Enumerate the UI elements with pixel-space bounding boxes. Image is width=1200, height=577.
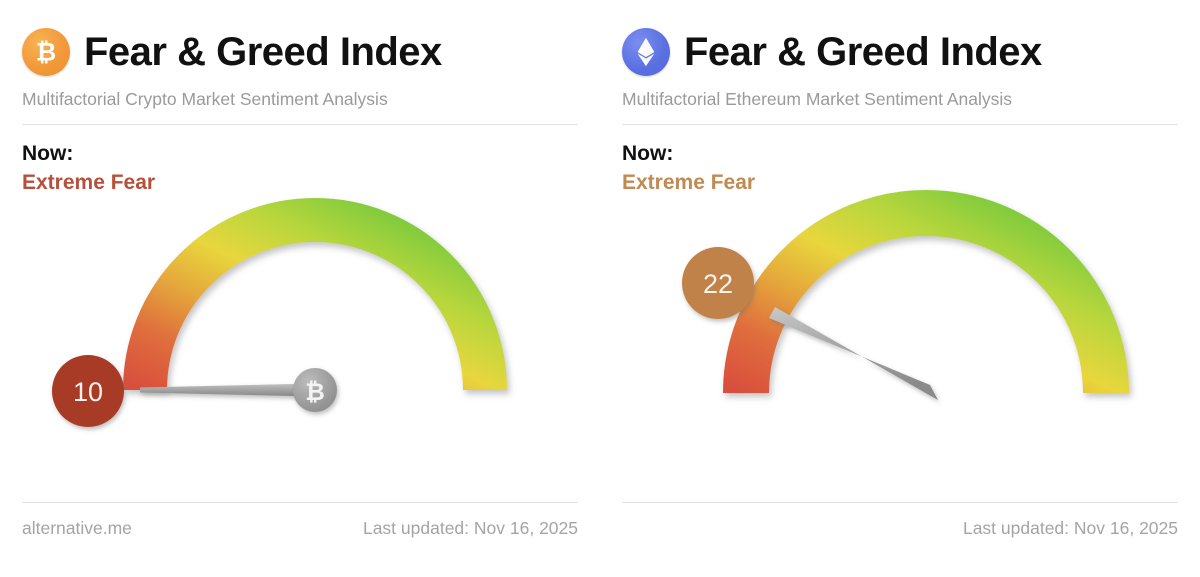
bitcoin-hub-icon: ₿: [293, 368, 337, 412]
gauge-arc: [145, 220, 485, 390]
header-divider: [622, 124, 1178, 125]
bitcoin-panel-header: ₿ Fear & Greed Index: [22, 26, 578, 78]
page-title: Fear & Greed Index: [84, 32, 442, 72]
bitcoin-logo-icon: ₿: [22, 28, 70, 76]
gauge-value-label: 22: [703, 269, 733, 299]
gauge-value-label: 10: [73, 377, 103, 407]
bitcoin-subtitle: Multifactorial Crypto Market Sentiment A…: [22, 89, 578, 110]
gauge-arc: [746, 213, 1106, 393]
ethereum-subtitle: Multifactorial Ethereum Market Sentiment…: [622, 89, 1178, 110]
bitcoin-gauge: ₿ 10: [30, 193, 570, 523]
gauge-value-badge: 22: [682, 247, 754, 319]
page-title: Fear & Greed Index: [684, 32, 1042, 72]
ethereum-gauge: 22: [636, 155, 1196, 535]
gauge-needle: [769, 307, 938, 400]
svg-text:₿: ₿: [36, 39, 56, 67]
ethereum-panel: Fear & Greed Index Multifactorial Ethere…: [600, 0, 1200, 577]
ethereum-panel-header: Fear & Greed Index: [622, 26, 1178, 78]
bitcoin-now-block: Now: Extreme Fear: [22, 141, 578, 197]
header-divider: [22, 124, 578, 125]
bitcoin-panel-footer: alternative.me Last updated: Nov 16, 202…: [22, 488, 578, 539]
fear-greed-dashboard: ₿ Fear & Greed Index Multifactorial Cryp…: [0, 0, 1200, 577]
footer-divider: [622, 502, 1178, 503]
svg-text:₿: ₿: [305, 379, 325, 406]
gauge-value-badge: 10: [52, 355, 124, 427]
ethereum-logo-icon: [622, 28, 670, 76]
last-updated-text: Last updated: Nov 16, 2025: [963, 518, 1178, 539]
source-link[interactable]: alternative.me: [22, 518, 132, 539]
bitcoin-panel: ₿ Fear & Greed Index Multifactorial Cryp…: [0, 0, 600, 577]
ethereum-panel-footer: Last updated: Nov 16, 2025: [622, 488, 1178, 539]
now-label: Now:: [22, 141, 578, 167]
last-updated-text: Last updated: Nov 16, 2025: [363, 518, 578, 539]
footer-divider: [22, 502, 578, 503]
